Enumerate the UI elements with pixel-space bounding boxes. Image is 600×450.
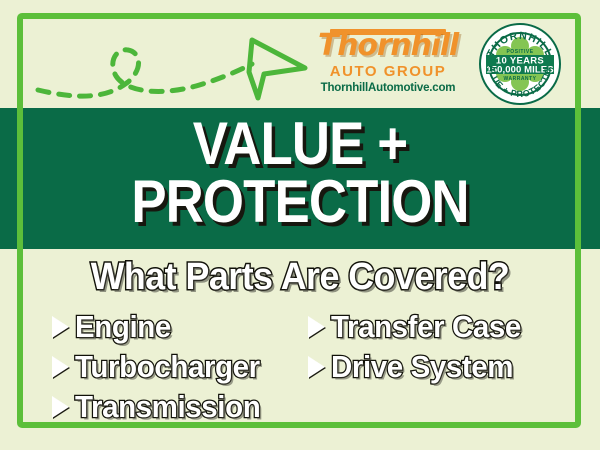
logo-website-url: ThornhillAutomotive.com: [312, 82, 464, 95]
list-item: Drive System: [308, 348, 548, 386]
list-item: Transmission: [52, 388, 284, 426]
dashed-flight-path-arrow-icon: [20, 18, 310, 104]
header: Thornhill AUTO GROUP ThornhillAutomotive…: [0, 0, 600, 108]
advertisement-banner: Thornhill AUTO GROUP ThornhillAutomotive…: [0, 0, 600, 450]
covered-parts-left-column: Engine Turbocharger Transmission: [52, 308, 284, 426]
triangle-bullet-icon: [52, 316, 69, 338]
list-item: Transfer Case: [308, 308, 548, 346]
headline-line-1: VALUE +: [36, 112, 564, 176]
svg-text:WARRANTY: WARRANTY: [504, 76, 537, 82]
brand-logo: Thornhill AUTO GROUP ThornhillAutomotive…: [312, 26, 464, 102]
covered-parts-title: What Parts Are Covered?: [18, 256, 582, 298]
logo-subtitle: AUTO GROUP: [312, 63, 464, 80]
logo-name: Thornhill: [312, 30, 464, 62]
list-item: Turbocharger: [52, 348, 284, 386]
triangle-bullet-icon: [308, 316, 325, 338]
triangle-bullet-icon: [52, 356, 69, 378]
headline: VALUE + PROTECTION: [0, 110, 600, 250]
list-item-label: Engine: [75, 310, 171, 344]
triangle-bullet-icon: [308, 356, 325, 378]
list-item: Engine: [52, 308, 284, 346]
svg-text:POSITIVE: POSITIVE: [506, 49, 533, 55]
triangle-bullet-icon: [52, 396, 69, 418]
list-item-label: Transfer Case: [331, 310, 521, 344]
list-item-label: Transmission: [75, 390, 260, 424]
headline-line-2: PROTECTION: [36, 170, 564, 234]
warranty-badge-icon: THORNHILL POSITIVE 10 YEARS 150,000 MILE…: [478, 22, 562, 106]
list-item-label: Drive System: [331, 350, 513, 384]
covered-parts-section: What Parts Are Covered? Engine Turbochar…: [0, 252, 600, 430]
covered-parts-columns: Engine Turbocharger Transmission Transfe…: [0, 308, 600, 426]
list-item-label: Turbocharger: [75, 350, 260, 384]
covered-parts-right-column: Transfer Case Drive System: [308, 308, 548, 426]
